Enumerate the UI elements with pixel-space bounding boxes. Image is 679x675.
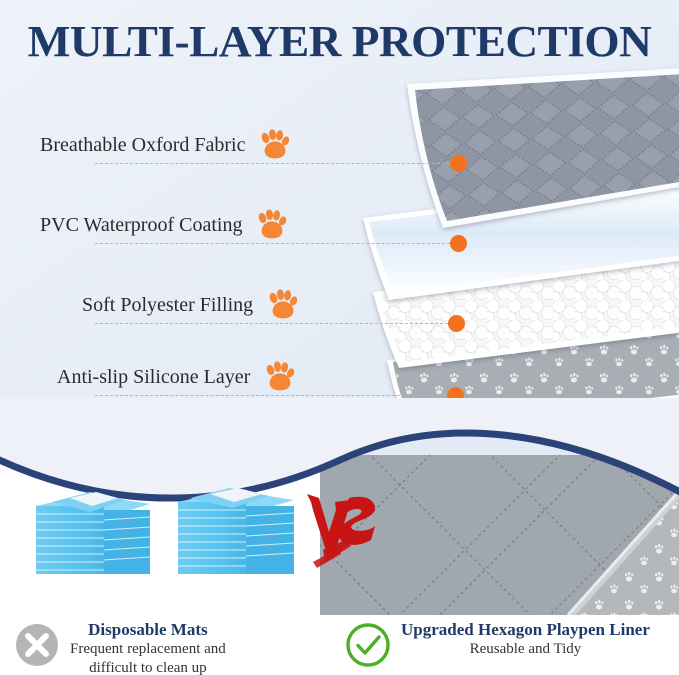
- comparison-left-subtitle-line2: difficult to clean up: [70, 659, 226, 675]
- comparison-right-text: Upgraded Hexagon Playpen Liner Reusable …: [401, 620, 650, 659]
- pad-stack: [178, 488, 294, 574]
- disposable-pads-illustration: [18, 480, 308, 600]
- comparison-left-text: Disposable Mats Frequent replacement and…: [70, 620, 226, 675]
- layer-label-1: Breathable Oxford Fabric: [40, 128, 291, 162]
- connector-line-3: [95, 323, 458, 324]
- comparison-left-footer: Disposable Mats Frequent replacement and…: [14, 620, 226, 675]
- layer-label-2-text: PVC Waterproof Coating: [40, 214, 242, 237]
- connector-line-1: [95, 163, 460, 164]
- comparison-right-footer: Upgraded Hexagon Playpen Liner Reusable …: [345, 620, 650, 668]
- connector-dot-1: [450, 155, 467, 172]
- comparison-right-subtitle-line1: Reusable and Tidy: [401, 640, 650, 659]
- layer-label-4-text: Anti-slip Silicone Layer: [57, 366, 250, 389]
- pad-stack: [36, 492, 150, 574]
- connector-dot-3: [448, 315, 465, 332]
- connector-line-2: [95, 243, 460, 244]
- layer-label-1-text: Breathable Oxford Fabric: [40, 134, 245, 157]
- layer-label-4: Anti-slip Silicone Layer: [57, 360, 296, 394]
- comparison-left-subtitle: Frequent replacement and difficult to cl…: [70, 640, 226, 675]
- connector-dot-2: [450, 235, 467, 252]
- infographic-root: MULTI-LAYER PROTECTION: [0, 0, 679, 675]
- comparison-right-title: Upgraded Hexagon Playpen Liner: [401, 620, 650, 640]
- paw-icon: [265, 289, 299, 321]
- vs-badge: [305, 488, 380, 578]
- x-circle-icon: [14, 622, 60, 668]
- paw-icon: [257, 129, 291, 161]
- connector-line-4: [95, 395, 455, 396]
- layer-label-3-text: Soft Polyester Filling: [82, 294, 253, 317]
- paw-icon: [262, 361, 296, 393]
- comparison-left-title: Disposable Mats: [70, 620, 226, 640]
- check-circle-icon: [345, 622, 391, 668]
- comparison-right-subtitle: Reusable and Tidy: [401, 640, 650, 659]
- layer-label-2: PVC Waterproof Coating: [40, 208, 288, 242]
- paw-icon: [254, 209, 288, 241]
- comparison-left-subtitle-line1: Frequent replacement and: [70, 640, 226, 659]
- layer-label-3: Soft Polyester Filling: [82, 288, 299, 322]
